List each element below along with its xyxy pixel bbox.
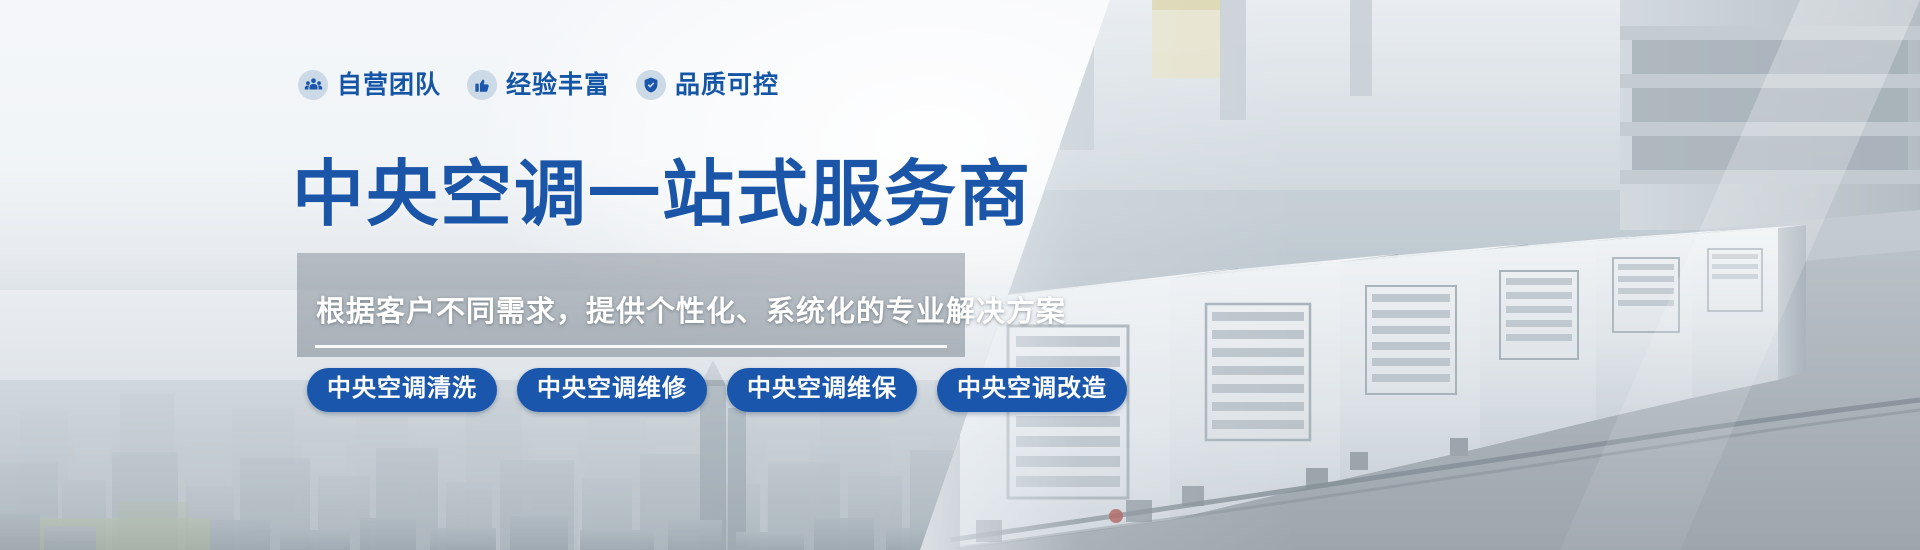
service-pill-renovation[interactable]: 中央空调改造 bbox=[937, 368, 1127, 412]
service-pill-repair[interactable]: 中央空调维修 bbox=[517, 368, 707, 412]
team-icon bbox=[298, 70, 328, 100]
feature-item-experience: 经验丰富 bbox=[467, 70, 610, 100]
service-pill-cleaning[interactable]: 中央空调清洗 bbox=[307, 368, 497, 412]
hero-banner: 自营团队 经验丰富 品质可控 bbox=[0, 0, 1920, 550]
subtitle-text: 根据客户不同需求，提供个性化、系统化的专业解决方案 bbox=[316, 288, 1066, 330]
feature-list: 自营团队 经验丰富 品质可控 bbox=[298, 70, 779, 100]
shield-check-icon bbox=[636, 70, 666, 100]
feature-label: 经验丰富 bbox=[506, 73, 610, 98]
panel-divider bbox=[315, 345, 947, 348]
service-pill-maintenance[interactable]: 中央空调维保 bbox=[727, 368, 917, 412]
feature-label: 品质可控 bbox=[675, 73, 779, 98]
feature-item-team: 自营团队 bbox=[298, 70, 441, 100]
feature-item-quality: 品质可控 bbox=[636, 70, 779, 100]
banner-content: 自营团队 经验丰富 品质可控 bbox=[0, 0, 1000, 550]
service-pill-list: 中央空调清洗 中央空调维修 中央空调维保 中央空调改造 bbox=[307, 368, 1127, 412]
thumbs-up-icon bbox=[467, 70, 497, 100]
page-title: 中央空调一站式服务商 bbox=[292, 156, 1032, 235]
feature-label: 自营团队 bbox=[337, 73, 441, 98]
